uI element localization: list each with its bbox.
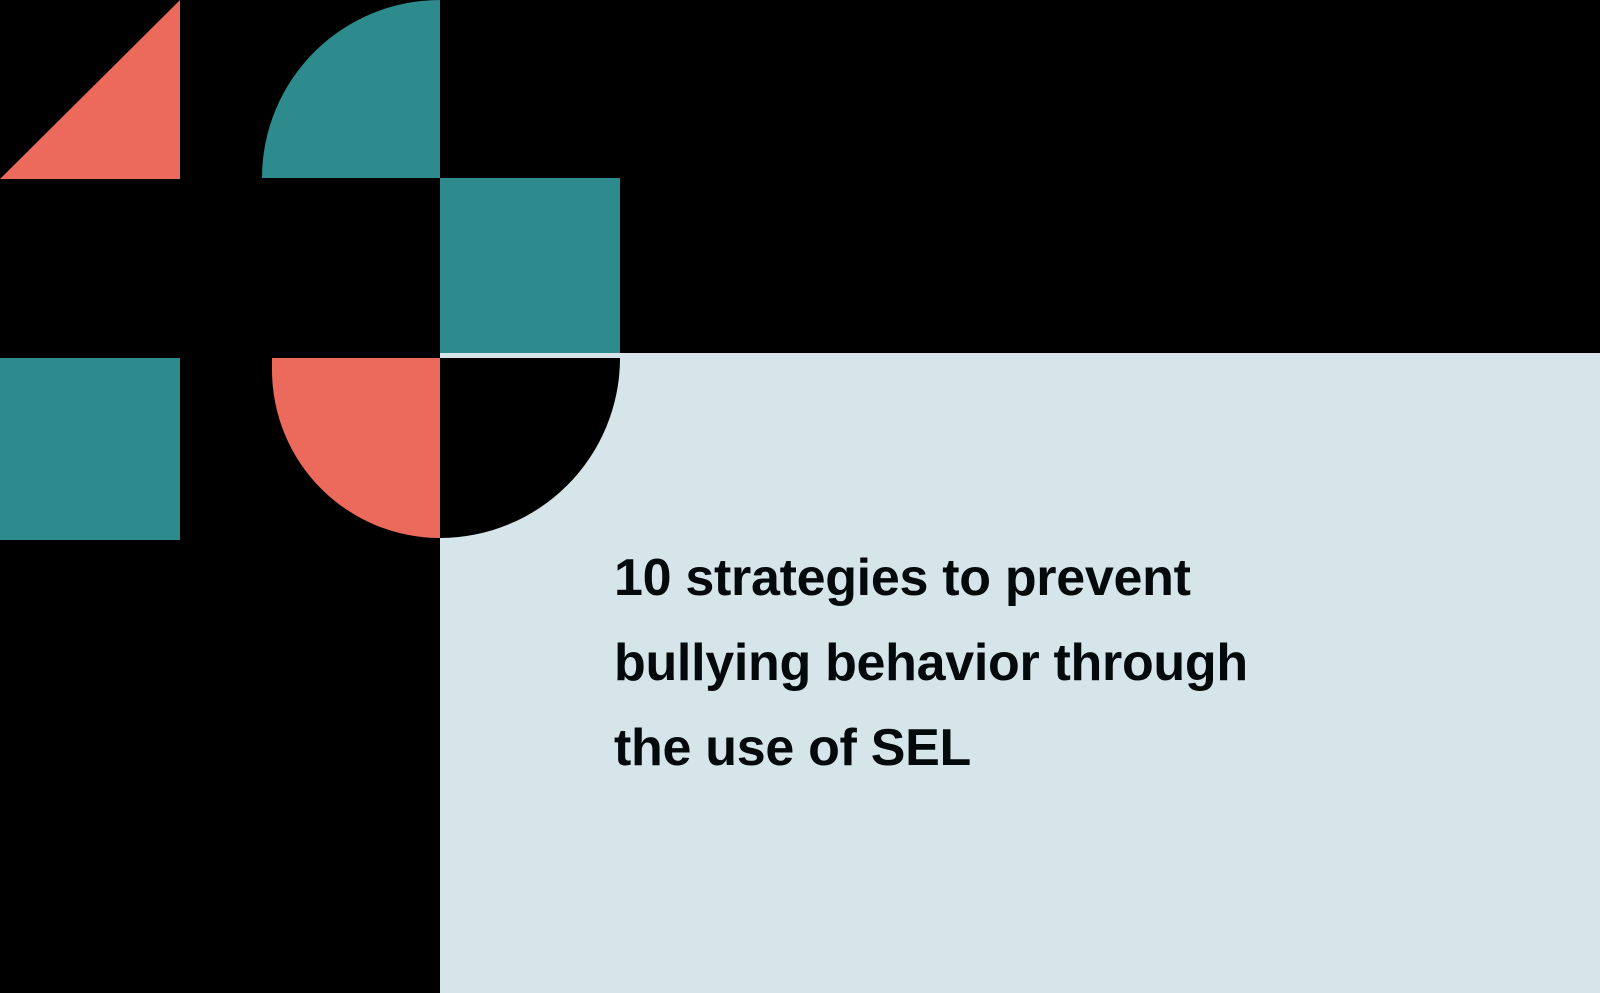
teal-square-left-shape [0, 358, 180, 540]
page-title: 10 strategies to prevent bullying behavi… [614, 536, 1414, 791]
black-quarter-circle-bottom-shape [440, 358, 620, 538]
decorative-graphic [0, 0, 700, 560]
coral-quarter-circle-bottom-shape [272, 358, 440, 538]
slide-canvas: 10 strategies to prevent bullying behavi… [0, 0, 1600, 993]
coral-triangle-shape [0, 0, 180, 179]
teal-square-right-shape [440, 178, 620, 353]
teal-quarter-circle-top-shape [262, 0, 440, 178]
